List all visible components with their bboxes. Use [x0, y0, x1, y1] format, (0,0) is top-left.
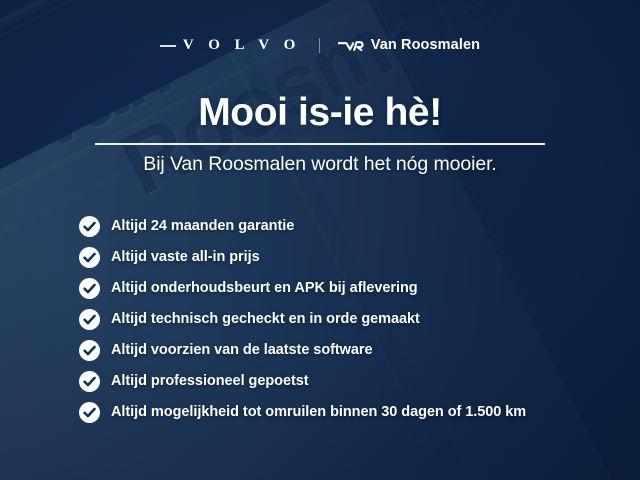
list-item: Altijd voorzien van de laatste software	[79, 339, 526, 361]
list-item-label: Altijd technisch gecheckt en in orde gem…	[111, 311, 420, 327]
banner-content: V O L V O Van Roosmalen Mooi is-ie hè! B…	[0, 0, 640, 480]
check-circle-icon	[79, 247, 100, 268]
volvo-wordmark: V O L V O	[183, 38, 301, 53]
list-item-label: Altijd 24 maanden garantie	[111, 218, 294, 234]
logo-separator-divider	[319, 38, 320, 53]
list-item-label: Altijd professioneel gepoetst	[111, 373, 309, 389]
list-item: Altijd professioneel gepoetst	[79, 370, 526, 392]
check-circle-icon	[79, 402, 100, 423]
list-item-label: Altijd onderhoudsbeurt en APK bij afleve…	[111, 280, 418, 296]
list-item-label: Altijd voorzien van de laatste software	[111, 342, 373, 358]
van-roosmalen-vr-mark-icon	[338, 39, 364, 53]
check-circle-icon	[79, 309, 100, 330]
check-circle-icon	[79, 371, 100, 392]
logo-bar: V O L V O Van Roosmalen	[0, 38, 640, 53]
promo-banner: Van Roosmalen V O L V O	[0, 0, 640, 480]
page-subtitle: Bij Van Roosmalen wordt het nóg mooier.	[0, 153, 640, 176]
check-circle-icon	[79, 340, 100, 361]
volvo-iron-mark-icon	[160, 45, 176, 47]
list-item: Altijd technisch gecheckt en in orde gem…	[79, 308, 526, 330]
list-item: Altijd onderhoudsbeurt en APK bij afleve…	[79, 277, 526, 299]
list-item: Altijd mogelijkheid tot omruilen binnen …	[79, 401, 526, 423]
check-circle-icon	[79, 216, 100, 237]
list-item-label: Altijd vaste all-in prijs	[111, 249, 260, 265]
page-title: Mooi is-ie hè!	[0, 93, 640, 134]
volvo-logo: V O L V O	[160, 38, 301, 53]
headline-divider	[95, 143, 545, 145]
list-item-label: Altijd mogelijkheid tot omruilen binnen …	[111, 404, 526, 420]
check-circle-icon	[79, 278, 100, 299]
van-roosmalen-wordmark: Van Roosmalen	[371, 38, 480, 53]
list-item: Altijd vaste all-in prijs	[79, 246, 526, 268]
van-roosmalen-logo: Van Roosmalen	[338, 38, 480, 53]
benefits-checklist: Altijd 24 maanden garantie Altijd vaste …	[79, 215, 526, 423]
list-item: Altijd 24 maanden garantie	[79, 215, 526, 237]
